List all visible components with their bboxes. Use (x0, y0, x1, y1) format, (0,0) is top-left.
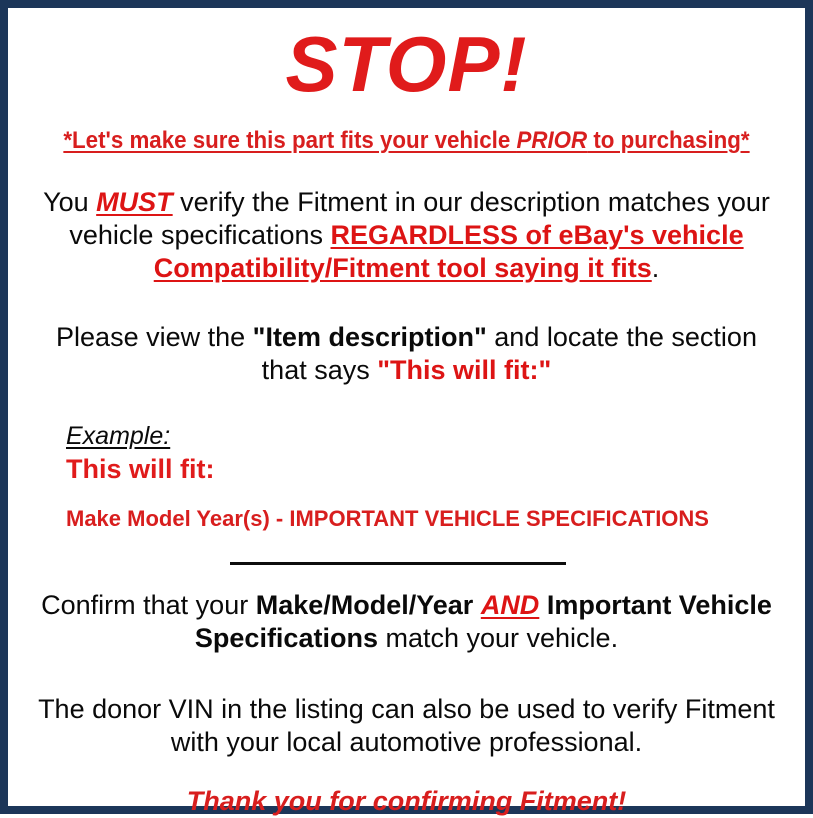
this-will-fit-quote: "This will fit:" (377, 355, 551, 385)
horizontal-rule-icon (230, 562, 566, 565)
confirm-part1: Confirm that your (41, 590, 256, 620)
example-spec-line: Make Model Year(s) - IMPORTANT VEHICLE S… (66, 505, 793, 533)
and-emphasis: AND (481, 590, 540, 620)
view-part1: Please view the (56, 322, 253, 352)
paragraph-item-description: Please view the "Item description" and l… (20, 321, 793, 387)
paragraph-must-verify: You MUST verify the Fitment in our descr… (20, 186, 793, 285)
must-part1: You (43, 187, 96, 217)
subtitle-prefix: *Let's make sure this part fits your veh… (63, 127, 516, 154)
item-description-emphasis: "Item description" (253, 322, 487, 352)
subtitle-suffix: to purchasing* (587, 127, 749, 154)
confirm-part2: match your vehicle. (378, 623, 618, 653)
must-emphasis: MUST (96, 187, 173, 217)
make-model-year-emphasis: Make/Model/Year (256, 590, 481, 620)
paragraph-donor-vin: The donor VIN in the listing can also be… (20, 693, 793, 759)
page-title: STOP! (20, 8, 793, 106)
thank-you-line: Thank you for confirming Fitment! (20, 785, 793, 818)
subtitle-warning: *Let's make sure this part fits your veh… (47, 126, 766, 156)
example-block: Example: This will fit: Make Model Year(… (20, 421, 793, 533)
subtitle-emphasis-prior: PRIOR (516, 127, 587, 154)
example-label: Example: (66, 421, 170, 451)
fitment-notice-card: STOP! *Let's make sure this part fits yo… (0, 0, 813, 814)
must-part3: . (652, 253, 660, 283)
example-fit-heading: This will fit: (66, 453, 793, 485)
paragraph-confirm-match: Confirm that your Make/Model/Year AND Im… (20, 589, 793, 655)
divider (20, 561, 793, 565)
